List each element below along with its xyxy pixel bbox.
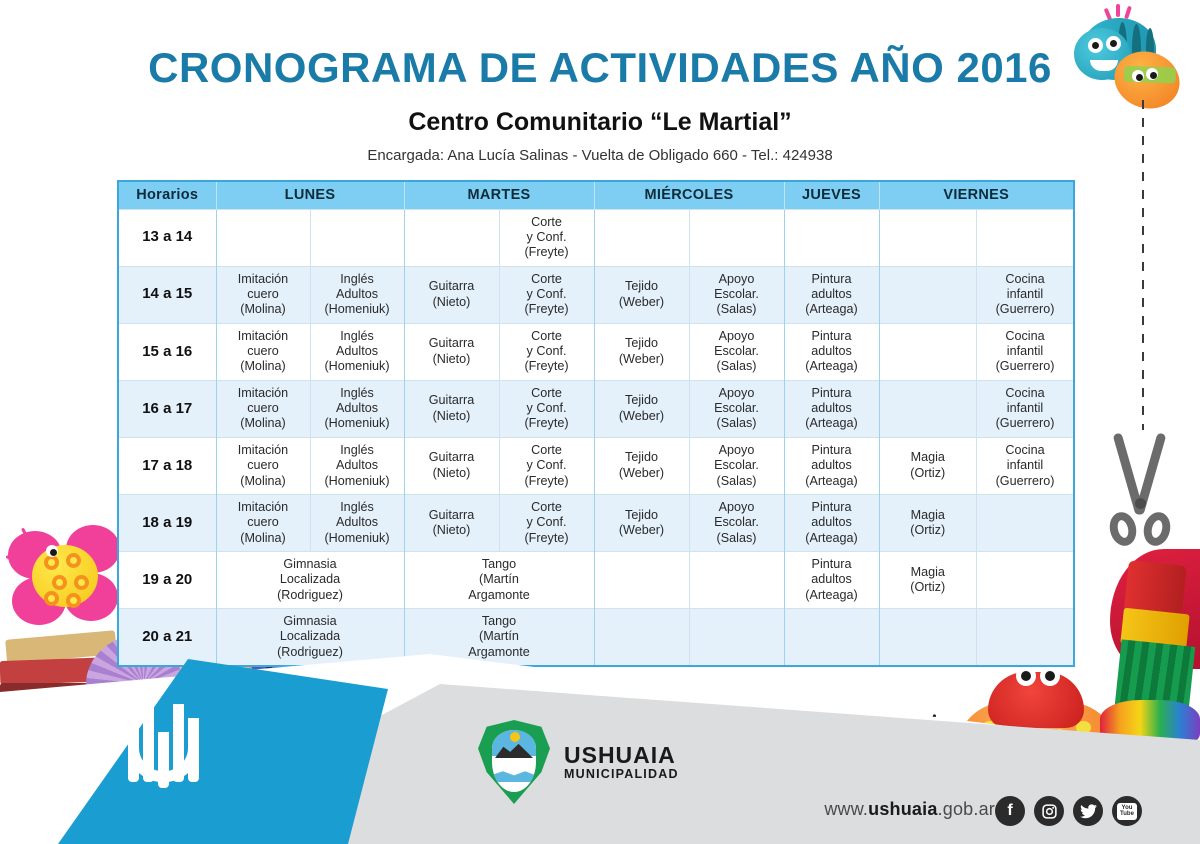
- cell-jueves: [784, 609, 879, 667]
- cell-viernes-b: [977, 609, 1075, 667]
- cell-viernes-b: Cocinainfantil(Guerrero): [977, 266, 1075, 323]
- cell-martes-a: Guitarra(Nieto): [404, 380, 499, 437]
- cell-martes-b: Cortey Conf.(Freyte): [499, 323, 594, 380]
- crest-title: USHUAIA: [564, 743, 679, 767]
- twitter-icon[interactable]: [1073, 796, 1103, 826]
- schedule-table: Horarios LUNES MARTES MIÉRCOLES JUEVES V…: [117, 180, 1075, 667]
- table-body: 13 a 14Cortey Conf.(Freyte)14 a 15Imitac…: [118, 209, 1074, 666]
- cell-lunes-b: [310, 209, 404, 266]
- url-suffix: .gob.ar: [938, 799, 995, 819]
- cell-martes-a: Guitarra(Nieto): [404, 437, 499, 494]
- table-row: 13 a 14Cortey Conf.(Freyte): [118, 209, 1074, 266]
- cell-viernes-a: [879, 380, 977, 437]
- youtube-icon[interactable]: YouTube: [1112, 796, 1142, 826]
- cell-lunes-b: InglésAdultos(Homeniuk): [310, 266, 404, 323]
- column-header-miercoles: MIÉRCOLES: [594, 181, 784, 209]
- cell-viernes-b: Cocinainfantil(Guerrero): [977, 323, 1075, 380]
- cell-viernes-b: Cocinainfantil(Guerrero): [977, 437, 1075, 494]
- cell-miercoles-a: [594, 551, 689, 608]
- cell-miercoles-b: ApoyoEscolar.(Salas): [689, 266, 784, 323]
- row-time-label: 18 a 19: [118, 494, 216, 551]
- red-ribbon-decoration: [1110, 549, 1200, 669]
- cell-lunes-a: Imitacióncuero(Molina): [216, 266, 310, 323]
- page-subtitle: Centro Comunitario “Le Martial”: [0, 108, 1200, 137]
- ushuaia-crest-icon: [478, 720, 550, 804]
- row-time-label: 17 a 18: [118, 437, 216, 494]
- cell-miercoles-b: [689, 551, 784, 608]
- social-links: f YouTube: [995, 796, 1142, 826]
- cell-lunes-a: Imitacióncuero(Molina): [216, 494, 310, 551]
- column-header-lunes: LUNES: [216, 181, 404, 209]
- crest-subtitle: MUNICIPALIDAD: [564, 767, 679, 781]
- cell-miercoles-b: [689, 209, 784, 266]
- row-time-label: 15 a 16: [118, 323, 216, 380]
- column-header-horarios: Horarios: [118, 181, 216, 209]
- cell-viernes-a: Magia(Ortiz): [879, 437, 977, 494]
- cell-martes-a: Guitarra(Nieto): [404, 266, 499, 323]
- cell-jueves: Pinturaadultos(Arteaga): [784, 437, 879, 494]
- cell-jueves: Pinturaadultos(Arteaga): [784, 494, 879, 551]
- column-header-jueves: JUEVES: [784, 181, 879, 209]
- cell-miercoles-a: [594, 209, 689, 266]
- row-time-label: 16 a 17: [118, 380, 216, 437]
- cell-lunes-b: InglésAdultos(Homeniuk): [310, 437, 404, 494]
- cell-miercoles-a: Tejido(Weber): [594, 266, 689, 323]
- cell-martes-b: Cortey Conf.(Freyte): [499, 209, 594, 266]
- cell-martes-b: Cortey Conf.(Freyte): [499, 437, 594, 494]
- cell-lunes-a: [216, 209, 310, 266]
- cell-jueves: Pinturaadultos(Arteaga): [784, 266, 879, 323]
- paintbrush-decoration: [1108, 563, 1200, 748]
- cell-viernes-a: [879, 609, 977, 667]
- table-row: 15 a 16Imitacióncuero(Molina)InglésAdult…: [118, 323, 1074, 380]
- cell-viernes-b: [977, 494, 1075, 551]
- cell-miercoles-a: Tejido(Weber): [594, 494, 689, 551]
- table-row: 14 a 15Imitacióncuero(Molina)InglésAdult…: [118, 266, 1074, 323]
- cell-miercoles-b: [689, 609, 784, 667]
- cell-viernes-b: Cocinainfantil(Guerrero): [977, 380, 1075, 437]
- url-brand: ushuaia: [868, 799, 937, 819]
- table-header-row: Horarios LUNES MARTES MIÉRCOLES JUEVES V…: [118, 181, 1074, 209]
- row-time-label: 20 a 21: [118, 609, 216, 667]
- cell-martes-b: Cortey Conf.(Freyte): [499, 494, 594, 551]
- ushuaia-u-logo: [128, 698, 212, 782]
- table-row: 16 a 17Imitacióncuero(Molina)InglésAdult…: [118, 380, 1074, 437]
- cell-miercoles-b: ApoyoEscolar.(Salas): [689, 380, 784, 437]
- website-url[interactable]: www.ushuaia.gob.ar: [824, 799, 995, 820]
- cell-miercoles-a: Tejido(Weber): [594, 437, 689, 494]
- cell-martes: Tango(MartínArgamonte: [404, 551, 594, 608]
- cell-viernes-b: [977, 209, 1075, 266]
- cell-miercoles-a: Tejido(Weber): [594, 380, 689, 437]
- cell-miercoles-a: Tejido(Weber): [594, 323, 689, 380]
- cell-viernes-a: [879, 266, 977, 323]
- cell-martes-a: [404, 209, 499, 266]
- row-time-label: 19 a 20: [118, 551, 216, 608]
- cell-lunes-b: InglésAdultos(Homeniuk): [310, 380, 404, 437]
- column-header-martes: MARTES: [404, 181, 594, 209]
- butterfly-craft-decoration: [8, 525, 128, 635]
- facebook-icon[interactable]: f: [995, 796, 1025, 826]
- cell-lunes-a: Imitacióncuero(Molina): [216, 437, 310, 494]
- row-time-label: 14 a 15: [118, 266, 216, 323]
- cell-miercoles-b: ApoyoEscolar.(Salas): [689, 323, 784, 380]
- cell-jueves: Pinturaadultos(Arteaga): [784, 380, 879, 437]
- cell-lunes: GimnasiaLocalizada(Rodriguez): [216, 609, 404, 667]
- cell-lunes: GimnasiaLocalizada(Rodriguez): [216, 551, 404, 608]
- table-row: 19 a 20GimnasiaLocalizada(Rodriguez)Tang…: [118, 551, 1074, 608]
- scissors-decoration: [1110, 432, 1172, 582]
- cell-jueves: Pinturaadultos(Arteaga): [784, 323, 879, 380]
- url-prefix: www.: [824, 799, 868, 819]
- cell-martes-b: Cortey Conf.(Freyte): [499, 266, 594, 323]
- cell-jueves: [784, 209, 879, 266]
- page-title: CRONOGRAMA DE ACTIVIDADES AÑO 2016: [0, 44, 1200, 92]
- cell-jueves: Pinturaadultos(Arteaga): [784, 551, 879, 608]
- cell-viernes-a: [879, 323, 977, 380]
- cell-miercoles-b: ApoyoEscolar.(Salas): [689, 437, 784, 494]
- row-time-label: 13 a 14: [118, 209, 216, 266]
- table-row: 17 a 18Imitacióncuero(Molina)InglésAdult…: [118, 437, 1074, 494]
- cell-lunes-b: InglésAdultos(Homeniuk): [310, 494, 404, 551]
- cell-miercoles-a: [594, 609, 689, 667]
- cell-martes-b: Cortey Conf.(Freyte): [499, 380, 594, 437]
- cell-viernes-a: [879, 209, 977, 266]
- cell-lunes-a: Imitacióncuero(Molina): [216, 323, 310, 380]
- cell-viernes-a: Magia(Ortiz): [879, 551, 977, 608]
- cell-miercoles-b: ApoyoEscolar.(Salas): [689, 494, 784, 551]
- cell-viernes-a: Magia(Ortiz): [879, 494, 977, 551]
- instagram-icon[interactable]: [1034, 796, 1064, 826]
- municipality-logo: USHUAIA MUNICIPALIDAD: [478, 720, 679, 804]
- column-header-viernes: VIERNES: [879, 181, 1074, 209]
- table-row: 18 a 19Imitacióncuero(Molina)InglésAdult…: [118, 494, 1074, 551]
- table-row: 20 a 21GimnasiaLocalizada(Rodriguez)Tang…: [118, 609, 1074, 667]
- cell-lunes-b: InglésAdultos(Homeniuk): [310, 323, 404, 380]
- contact-info: Encargada: Ana Lucía Salinas - Vuelta de…: [0, 147, 1200, 164]
- cell-martes-a: Guitarra(Nieto): [404, 323, 499, 380]
- cell-lunes-a: Imitacióncuero(Molina): [216, 380, 310, 437]
- cell-martes-a: Guitarra(Nieto): [404, 494, 499, 551]
- cell-viernes-b: [977, 551, 1075, 608]
